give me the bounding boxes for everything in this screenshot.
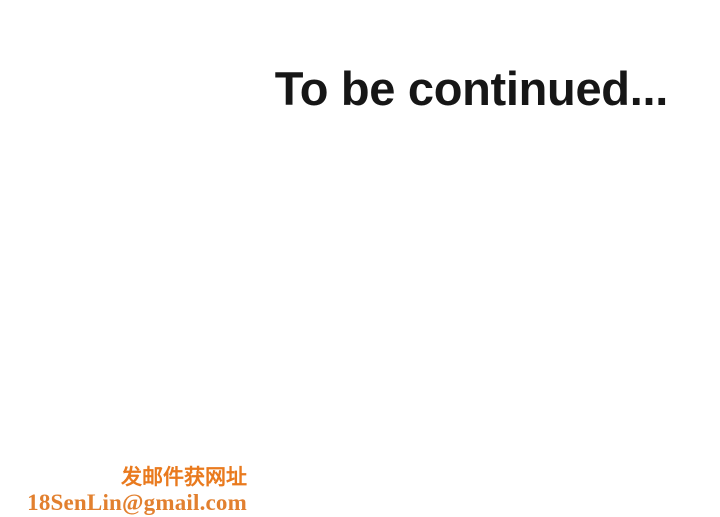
page-title: To be continued... xyxy=(275,62,668,116)
watermark: 发邮件获网址 18SenLin@gmail.com xyxy=(8,467,248,514)
slide-canvas: To be continued... 发邮件获网址 18SenLin@gmail… xyxy=(0,0,720,517)
watermark-email-address: 18SenLin@gmail.com xyxy=(8,491,248,514)
headline-container: To be continued... xyxy=(0,62,700,120)
watermark-contact-note: 发邮件获网址 xyxy=(8,467,248,488)
